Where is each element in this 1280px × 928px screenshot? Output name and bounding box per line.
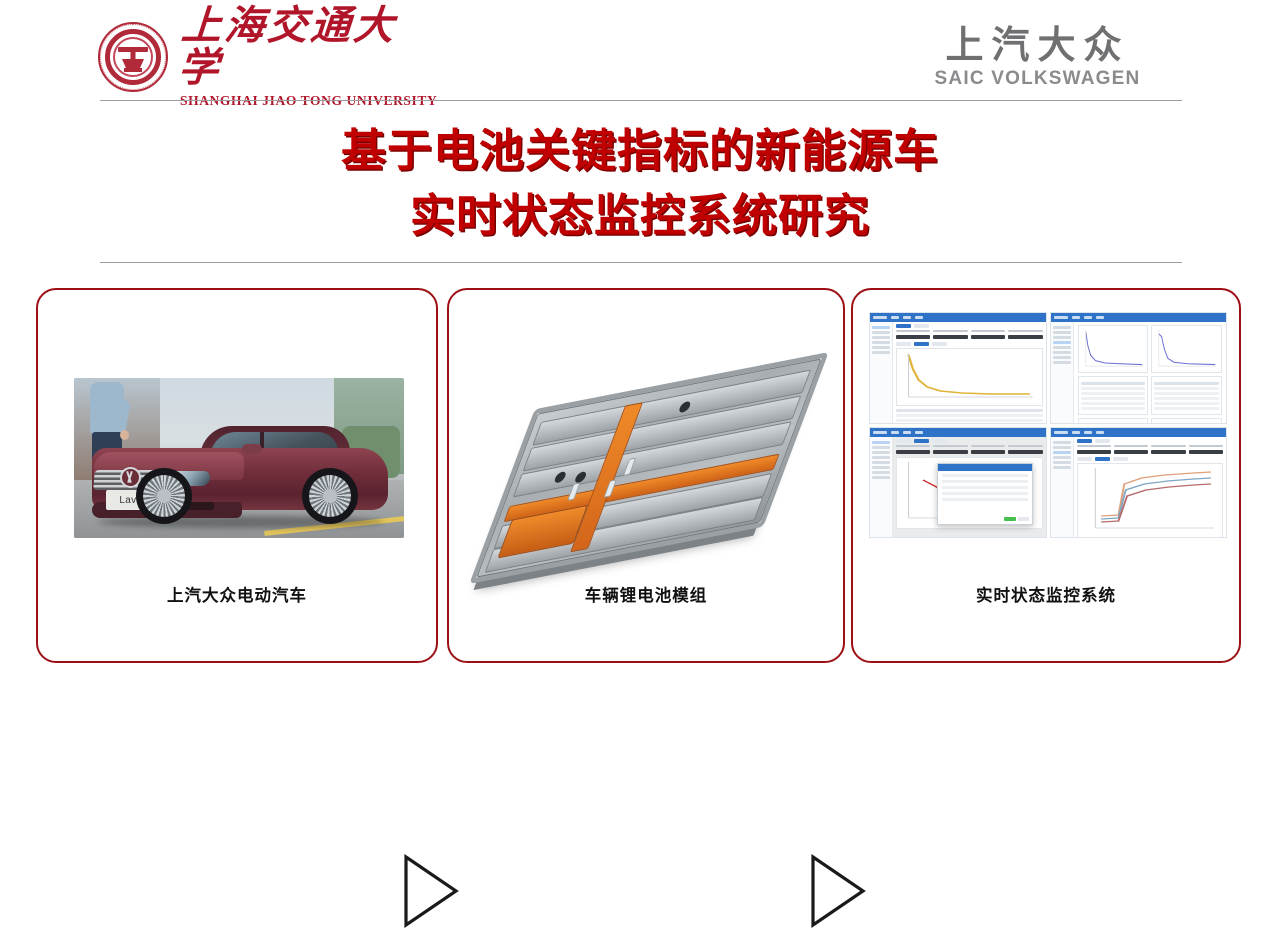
- soc-curve-chart: [1077, 463, 1224, 539]
- lithium-battery-pack-render: [489, 370, 807, 560]
- degradation-chart-right: [1151, 325, 1222, 373]
- settings-modal-dialog[interactable]: [937, 463, 1034, 525]
- slide-header: 上海交通大学 SHANGHAI JIAO TONG UNIVERSITY 上汽大…: [0, 0, 1280, 108]
- modal-cancel-button[interactable]: [1018, 517, 1029, 521]
- page-title-line-1: 基于电池关键指标的新能源车: [0, 118, 1280, 183]
- soc-estimation-dashboard: [1050, 427, 1228, 539]
- page-title: 基于电池关键指标的新能源车 实时状态监控系统研究: [0, 118, 1280, 249]
- charging-voltage-detail-dashboard: [869, 427, 1047, 539]
- degradation-table-left: [1078, 376, 1149, 415]
- degradation-curve-analysis-dashboard: [1050, 312, 1228, 424]
- front-wheel: [136, 468, 192, 524]
- slide-root: 上海交通大学 SHANGHAI JIAO TONG UNIVERSITY 上汽大…: [0, 0, 1280, 720]
- saic-name-cn: 上汽大众: [945, 26, 1129, 64]
- sjtu-name-en: SHANGHAI JIAO TONG UNIVERSITY: [180, 93, 437, 109]
- vw-lavida-sedan-photo: Lavida: [74, 378, 404, 538]
- battery-pack-body: [476, 358, 821, 577]
- battery-capacity-overview-dashboard: [869, 312, 1047, 424]
- saic-volkswagen-logo: 上汽大众 SAIC VOLKSWAGEN: [905, 22, 1170, 94]
- sjtu-name-cn: 上海交通大学: [177, 5, 440, 89]
- summary-right: [1151, 418, 1222, 423]
- card-caption-battery-module: 车辆锂电池模组: [449, 582, 843, 606]
- rear-wheel: [302, 468, 358, 524]
- degradation-chart-left: [1078, 325, 1149, 373]
- modal-confirm-button[interactable]: [1004, 517, 1016, 521]
- arrow-card2-to-card3: [810, 854, 866, 928]
- arrow-card1-to-card2: [403, 854, 459, 928]
- card-caption-monitoring-system: 实时状态监控系统: [853, 582, 1239, 606]
- card-battery-module[interactable]: 车辆锂电池模组: [447, 288, 845, 663]
- title-divider: [100, 262, 1182, 263]
- capacity-decay-chart: [896, 348, 1043, 406]
- card-electric-vehicle[interactable]: Lavida 上汽大众电动汽车: [36, 288, 438, 663]
- sjtu-seal-icon: [96, 20, 170, 94]
- page-title-line-2: 实时状态监控系统研究: [0, 183, 1280, 248]
- degradation-table-right: [1151, 376, 1222, 415]
- dashboard-screenshot-mosaic: [869, 312, 1227, 538]
- header-divider: [100, 100, 1182, 101]
- card-caption-electric-vehicle: 上汽大众电动汽车: [38, 582, 436, 606]
- shanghai-jiao-tong-university-logo: 上海交通大学 SHANGHAI JIAO TONG UNIVERSITY: [96, 18, 426, 96]
- card-row: Lavida 上汽大众电动汽车: [0, 288, 1280, 663]
- card-monitoring-system[interactable]: 实时状态监控系统: [851, 288, 1241, 663]
- summary-left: [1078, 418, 1149, 423]
- sedan-illustration: Lavida: [92, 408, 388, 524]
- saic-name-en: SAIC VOLKSWAGEN: [935, 68, 1141, 90]
- sjtu-wordmark: 上海交通大学 SHANGHAI JIAO TONG UNIVERSITY: [180, 5, 437, 109]
